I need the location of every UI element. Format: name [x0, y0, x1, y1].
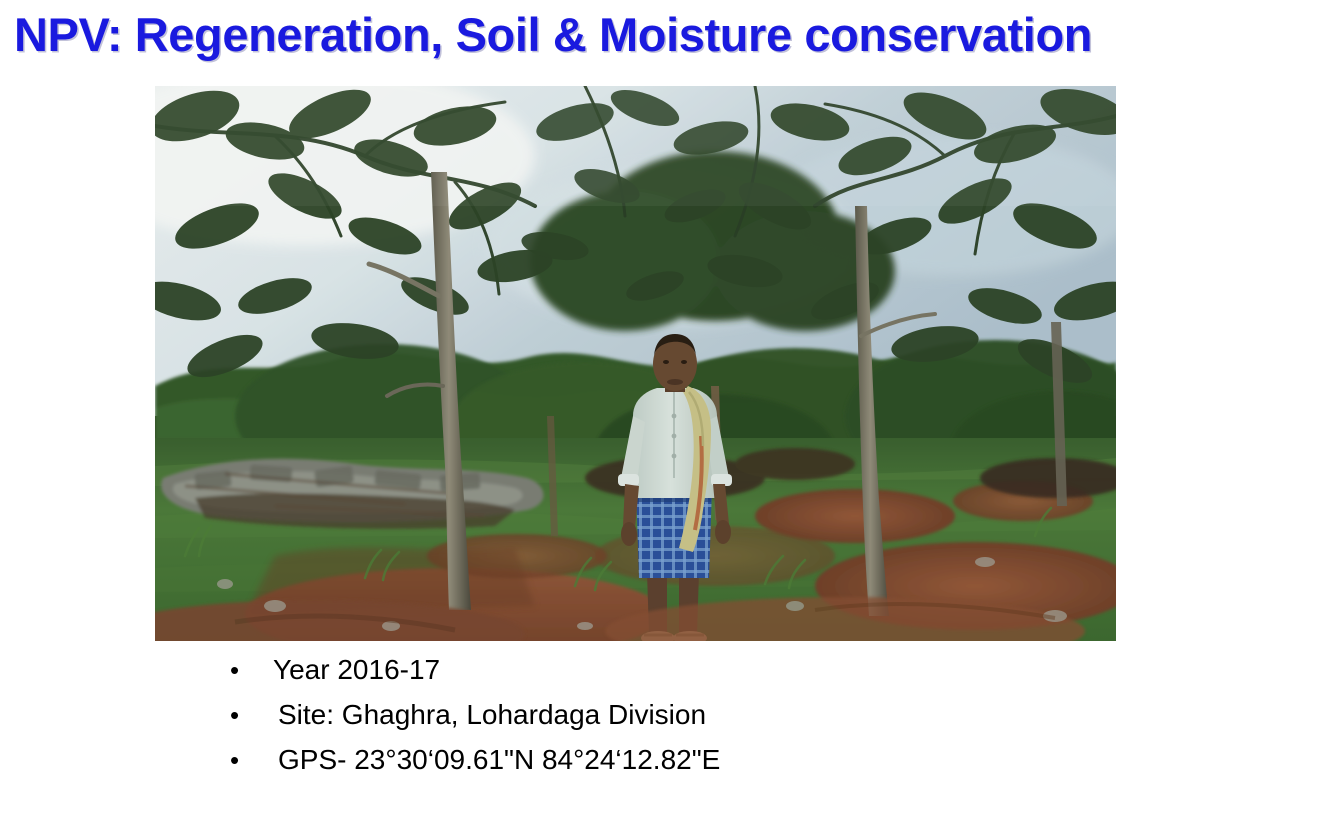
list-item: • Site: Ghaghra, Lohardaga Division [222, 700, 1122, 745]
bullet-text-gps: GPS- 23°30‘09.61"N 84°24‘12.82"E [270, 745, 720, 776]
page-title: NPV: Regeneration, Soil & Moisture conse… [14, 6, 1324, 65]
slide-canvas: NPV: Regeneration, Soil & Moisture conse… [0, 0, 1332, 836]
bullet-text-year: Year 2016-17 [270, 655, 440, 686]
bullet-list: • Year 2016-17 • Site: Ghaghra, Lohardag… [222, 655, 1122, 790]
list-item: • Year 2016-17 [222, 655, 1122, 700]
bullet-text-site: Site: Ghaghra, Lohardaga Division [270, 700, 706, 731]
bullet-marker-icon: • [222, 657, 270, 683]
photo-illustration [155, 86, 1116, 641]
list-item: • GPS- 23°30‘09.61"N 84°24‘12.82"E [222, 745, 1122, 790]
site-photograph [155, 86, 1116, 641]
bullet-marker-icon: • [222, 702, 270, 728]
bullet-marker-icon: • [222, 747, 270, 773]
